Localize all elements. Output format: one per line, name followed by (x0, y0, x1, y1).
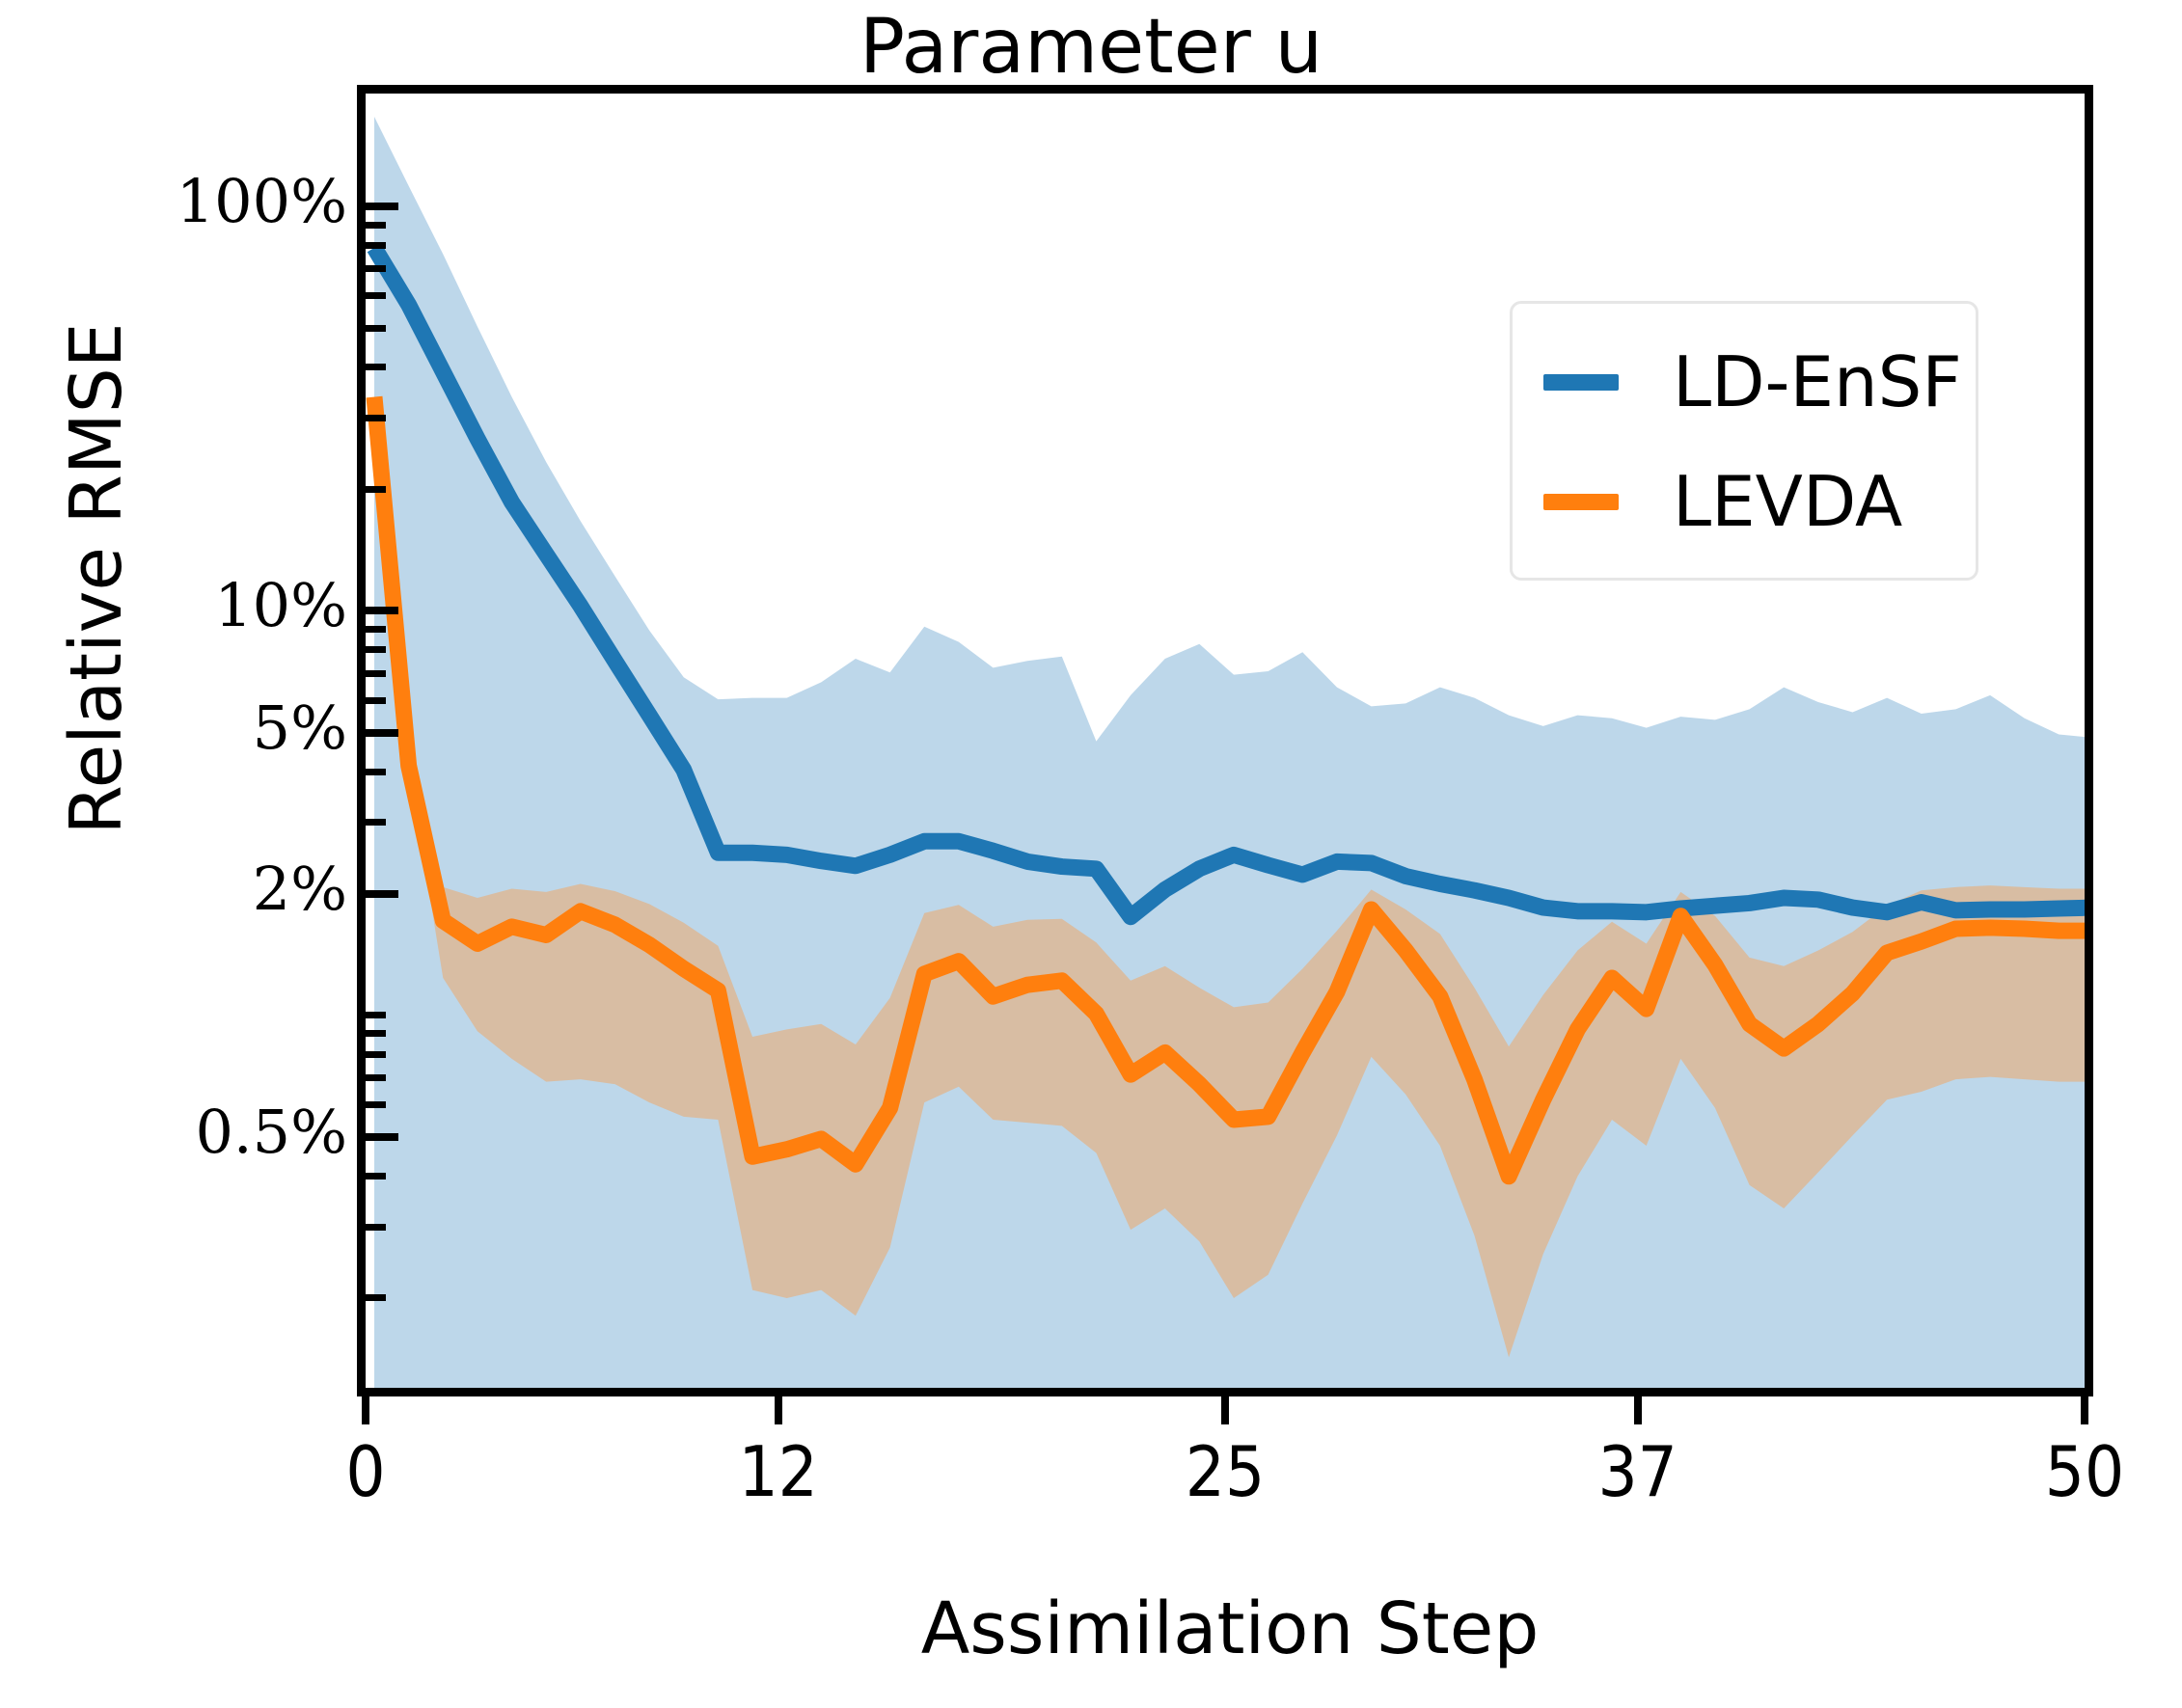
x-major-tick (2081, 1392, 2088, 1424)
x-tick-label: 12 (663, 1431, 894, 1512)
y-minor-tick (366, 1012, 386, 1018)
legend-item-ld-ensf[interactable]: LD-EnSF (1513, 329, 1976, 435)
y-tick-label: 100% (0, 166, 347, 236)
y-minor-tick (366, 203, 386, 209)
x-major-tick (1221, 1392, 1229, 1424)
x-major-tick (362, 1392, 369, 1424)
y-minor-tick (366, 769, 386, 775)
y-tick-label: 5% (0, 692, 347, 763)
x-major-tick (1634, 1392, 1642, 1424)
legend-label-ld-ensf: LD-EnSF (1673, 347, 1962, 417)
legend-item-levda[interactable]: LEVDA (1513, 448, 1976, 555)
y-minor-tick (366, 486, 386, 493)
x-major-tick (775, 1392, 782, 1424)
y-minor-tick (366, 646, 386, 653)
y-tick-label: 0.5% (0, 1097, 347, 1167)
y-minor-tick (366, 1173, 386, 1179)
y-tick-label: 2% (0, 854, 347, 924)
y-minor-tick (366, 415, 386, 421)
x-tick-label: 50 (1969, 1431, 2182, 1512)
y-minor-tick (366, 364, 386, 370)
x-tick-label: 0 (250, 1431, 481, 1512)
chart-figure: Parameter u Relative RMSE Assimilation S… (0, 0, 2182, 1708)
y-minor-tick (366, 242, 386, 249)
y-minor-tick (366, 1030, 386, 1037)
y-minor-tick (366, 670, 386, 677)
y-minor-tick (366, 626, 386, 633)
y-minor-tick (366, 608, 386, 614)
y-minor-tick (366, 697, 386, 704)
y-minor-tick (366, 729, 386, 736)
plot-area (357, 85, 2093, 1396)
plot-canvas (366, 94, 2093, 1396)
y-minor-tick (366, 819, 386, 826)
y-tick-label: 10% (0, 570, 347, 640)
y-minor-tick (366, 1051, 386, 1058)
y-minor-tick (366, 222, 386, 229)
y-minor-tick (366, 1074, 386, 1081)
x-tick-label: 25 (1109, 1431, 1341, 1512)
y-minor-tick (366, 1224, 386, 1231)
y-minor-tick (366, 890, 386, 897)
y-minor-tick (366, 292, 386, 299)
y-minor-tick (366, 1134, 386, 1141)
legend-swatch-levda (1543, 494, 1619, 510)
y-minor-tick (366, 325, 386, 332)
y-minor-tick (366, 265, 386, 272)
chart-title: Parameter u (0, 6, 2182, 89)
y-minor-tick (366, 1294, 386, 1301)
legend-swatch-ld-ensf (1543, 374, 1619, 391)
legend-label-levda: LEVDA (1673, 467, 1902, 536)
x-axis-label: Assimilation Step (367, 1589, 2093, 1668)
legend-box[interactable]: LD-EnSF LEVDA (1510, 301, 1978, 581)
x-tick-label: 37 (1522, 1431, 1754, 1512)
y-minor-tick (366, 1101, 386, 1108)
